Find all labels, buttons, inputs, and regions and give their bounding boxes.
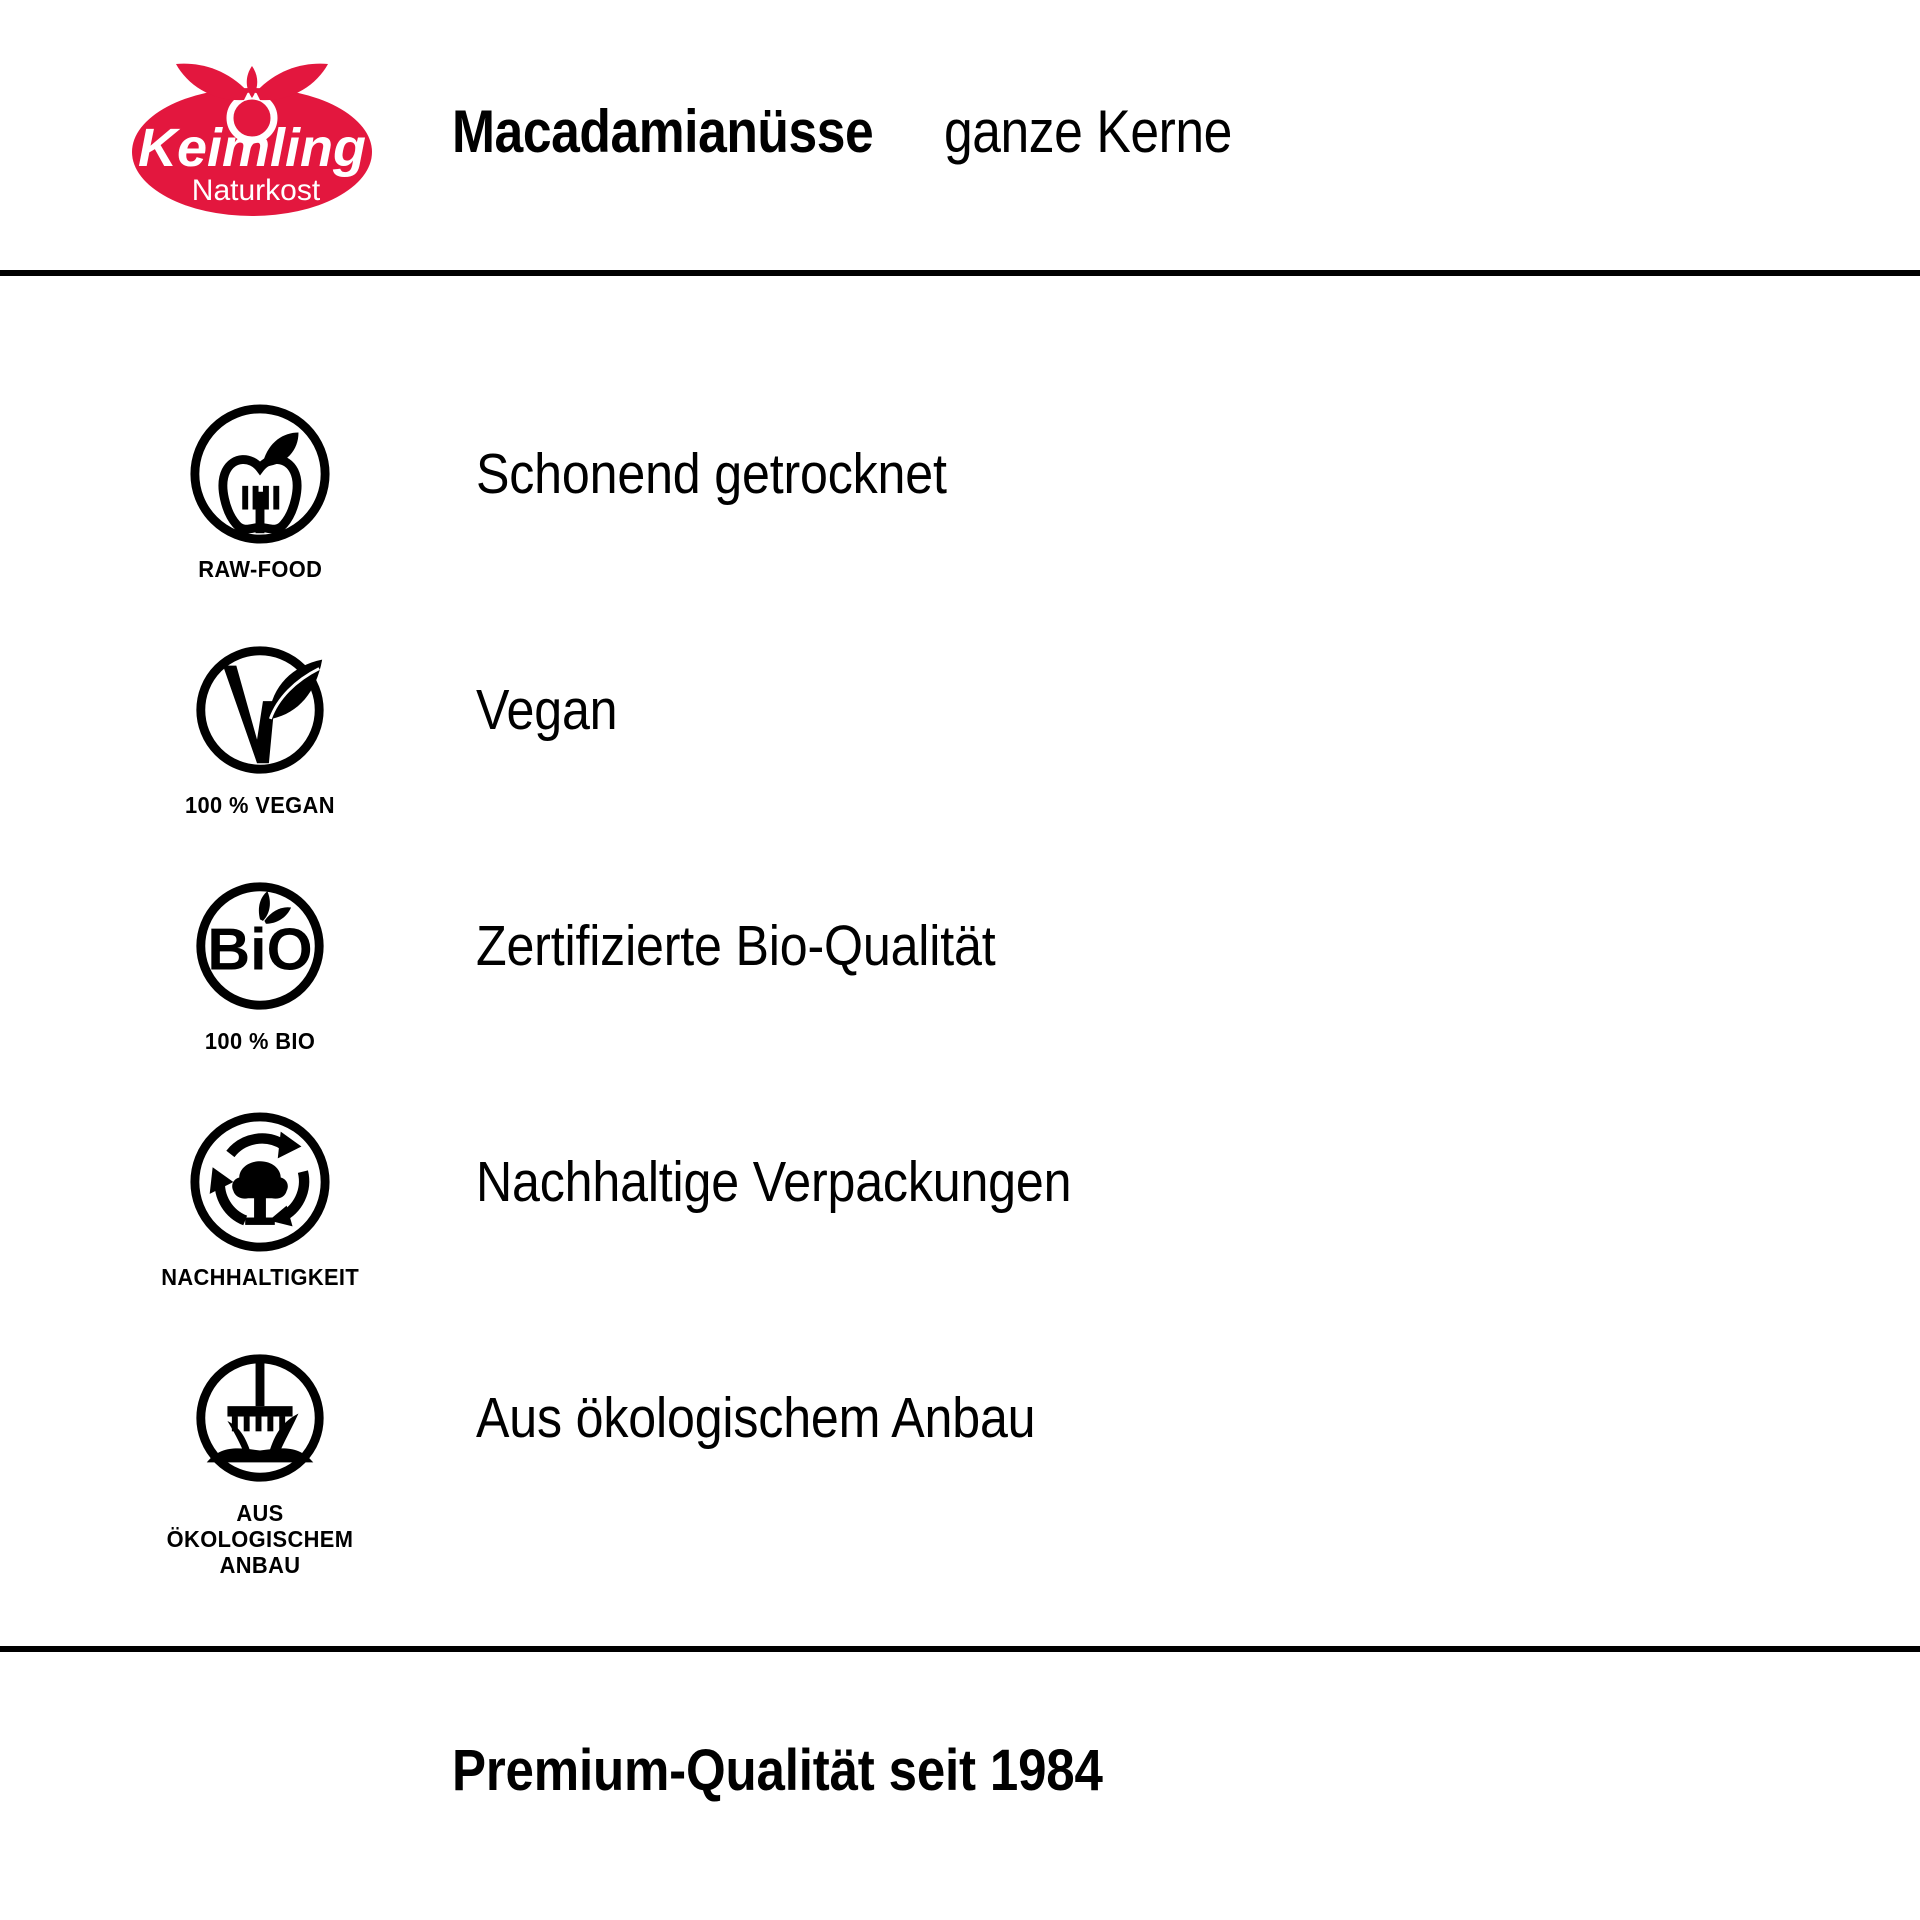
badge-caption: NACHHALTIGKEIT xyxy=(161,1264,359,1290)
sustainability-icon xyxy=(186,1108,334,1256)
divider-bottom xyxy=(0,1646,1920,1652)
badge: 100 % VEGAN xyxy=(160,636,360,818)
keimling-naturkost-logo: Keimling Naturkost xyxy=(128,48,376,220)
list-item: BiO 100 % BIO Zertifizierte Bio-Qualität xyxy=(0,872,1920,1108)
svg-text:BiO: BiO xyxy=(207,916,312,983)
list-item: NACHHALTIGKEIT Nachhaltige Verpackungen xyxy=(0,1108,1920,1344)
badge-caption: 100 % VEGAN xyxy=(185,792,335,818)
footer: Premium-Qualität seit 1984 xyxy=(0,1700,1920,1840)
list-item: 100 % VEGAN Vegan xyxy=(0,636,1920,872)
product-name: Macadamianüsse xyxy=(452,96,873,168)
feature-label: Zertifizierte Bio-Qualität xyxy=(476,872,995,1020)
list-item: AUS ÖKOLOGISCHEM ANBAU Aus ökologischem … xyxy=(0,1344,1920,1580)
product-variant: ganze Kerne xyxy=(944,96,1232,168)
badge: RAW-FOOD xyxy=(160,400,360,582)
badge-caption: RAW-FOOD xyxy=(198,556,322,582)
raw-food-icon xyxy=(186,400,334,548)
feature-label: Schonend getrocknet xyxy=(476,400,947,548)
footer-tagline: Premium-Qualität seit 1984 xyxy=(452,1737,1103,1804)
product-info-sheet: Keimling Naturkost Macadamianüsse ganze … xyxy=(0,0,1920,1920)
feature-label: Nachhaltige Verpackungen xyxy=(476,1108,1071,1256)
logo-wordmark: Keimling xyxy=(138,118,366,178)
feature-label: Aus ökologischem Anbau xyxy=(476,1344,1035,1492)
list-item: RAW-FOOD Schonend getrocknet xyxy=(0,400,1920,636)
badge: AUS ÖKOLOGISCHEM ANBAU xyxy=(160,1344,360,1578)
badge: BiO 100 % BIO xyxy=(160,872,360,1054)
page-title: Macadamianüsse ganze Kerne xyxy=(452,96,1832,168)
header: Keimling Naturkost Macadamianüsse ganze … xyxy=(0,0,1920,272)
organic-farming-icon xyxy=(186,1344,334,1492)
vegan-icon xyxy=(186,636,334,784)
badge: NACHHALTIGKEIT xyxy=(160,1108,360,1290)
feature-label: Vegan xyxy=(476,636,617,784)
badge-caption: 100 % BIO xyxy=(205,1028,315,1054)
badge-caption: AUS ÖKOLOGISCHEM ANBAU xyxy=(165,1500,355,1578)
feature-list: RAW-FOOD Schonend getrocknet 100 % VEG xyxy=(0,400,1920,1580)
logo-tagline: Naturkost xyxy=(192,174,321,207)
bio-icon: BiO xyxy=(186,872,334,1020)
divider-top xyxy=(0,270,1920,276)
